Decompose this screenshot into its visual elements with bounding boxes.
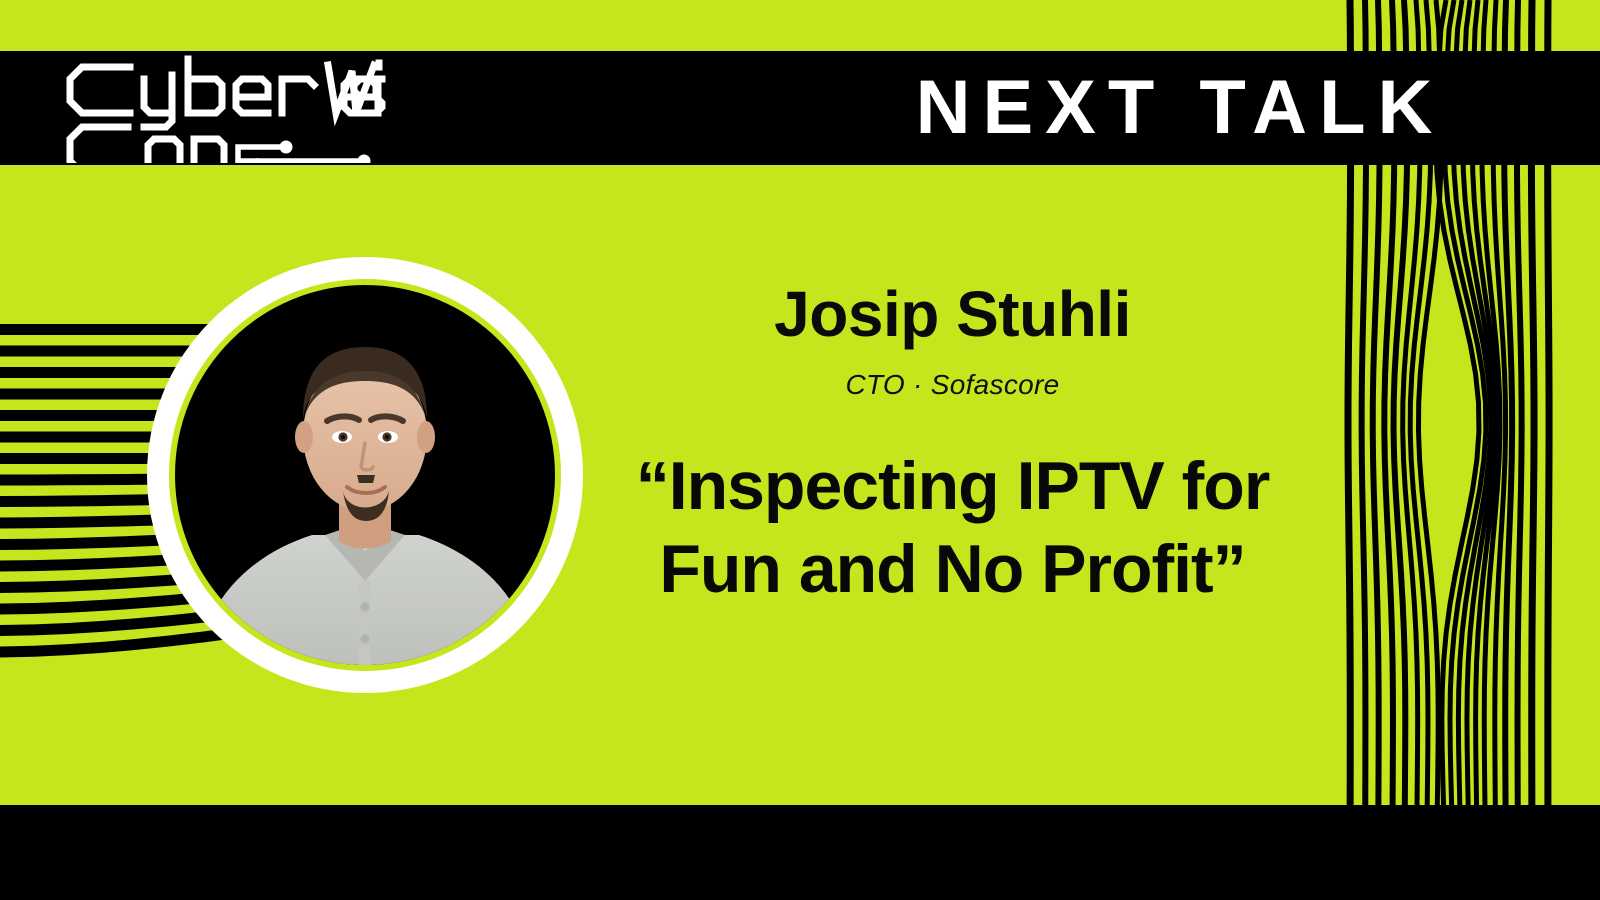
slide-canvas: NEXT TALK Josip Stuhli CTO · Sofascore “… bbox=[0, 0, 1600, 900]
cyberwise-con-logo[interactable] bbox=[60, 53, 390, 163]
speaker-name: Josip Stuhli bbox=[600, 280, 1305, 349]
next-talk-label: NEXT TALK bbox=[916, 70, 1445, 146]
next-talk-banner: NEXT TALK bbox=[845, 51, 1515, 165]
speaker-portrait bbox=[147, 229, 584, 721]
speaker-role: CTO · Sofascore bbox=[600, 369, 1305, 401]
talk-title-line-1: “Inspecting IPTV for bbox=[600, 445, 1305, 528]
talk-info-column: Josip Stuhli CTO · Sofascore “Inspecting… bbox=[600, 280, 1305, 611]
talk-title-line-2: Fun and No Profit” bbox=[600, 528, 1305, 611]
talk-title: “Inspecting IPTV for Fun and No Profit” bbox=[600, 445, 1305, 611]
bottom-banner bbox=[0, 805, 1600, 900]
